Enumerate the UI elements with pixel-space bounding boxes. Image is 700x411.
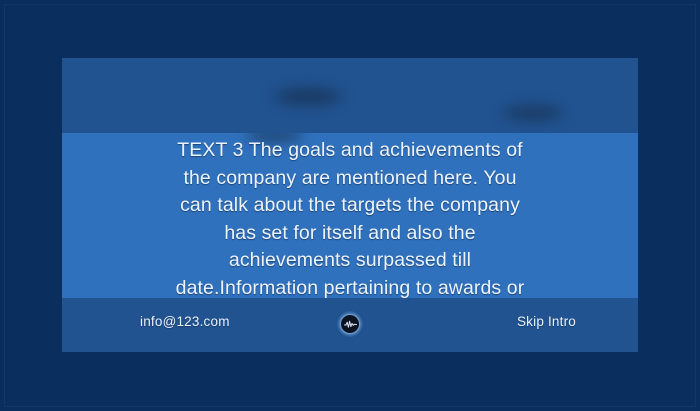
presentation-stage: TEXT 3 The goals and achievements of the…: [0, 0, 700, 411]
audio-toggle-button[interactable]: [337, 311, 363, 337]
slide-body-text: TEXT 3 The goals and achievements of the…: [62, 137, 638, 298]
footer-email-link[interactable]: info@123.com: [140, 314, 230, 329]
slide-panel[interactable]: TEXT 3 The goals and achievements of the…: [62, 58, 638, 352]
slide-top-band: [62, 58, 638, 133]
blurred-text-artifact: [274, 88, 342, 105]
skip-intro-button[interactable]: Skip Intro: [517, 314, 576, 329]
audio-waveform-icon: [340, 314, 360, 334]
slide-footer-band: info@123.com Skip Intro: [62, 298, 638, 352]
blurred-text-artifact: [502, 105, 564, 121]
slide-body-band: TEXT 3 The goals and achievements of the…: [62, 133, 638, 298]
